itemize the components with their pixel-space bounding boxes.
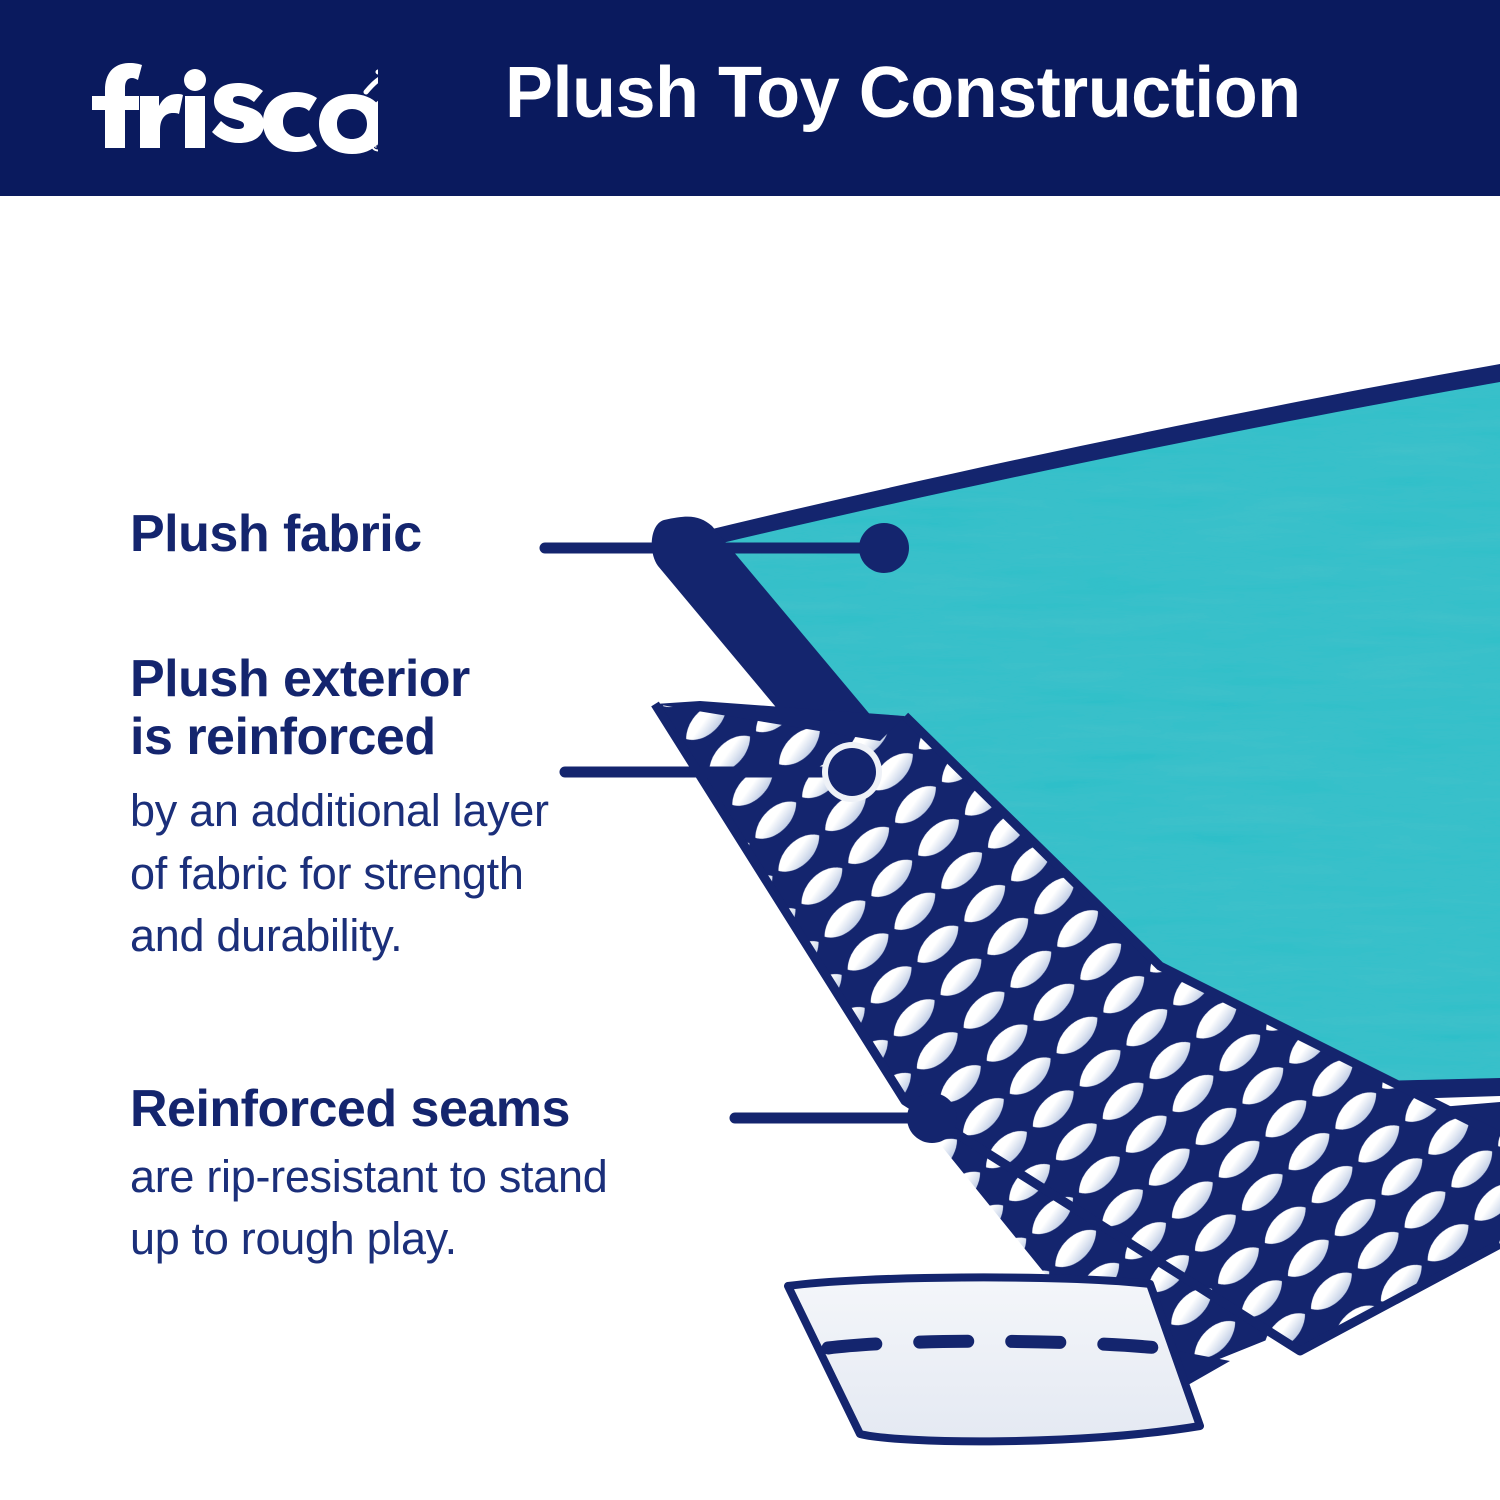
callout-body-line: of fabric for strength [130, 843, 549, 905]
callout-heading-line: is reinforced [130, 708, 549, 766]
infographic-page: R Plush Toy Construction [0, 0, 1500, 1500]
header-bar: R Plush Toy Construction [0, 0, 1500, 196]
callout-heading-line: Plush exterior [130, 650, 549, 708]
registered-trademark-icon: R [372, 138, 379, 151]
callout-reinforced-seams: Reinforced seams are rip-resistant to st… [130, 1080, 607, 1270]
callout-body-plush-exterior: by an additional layer of fabric for str… [130, 780, 549, 966]
callout-heading-reinforced-seams: Reinforced seams [130, 1080, 607, 1138]
callout-body-line: and durability. [130, 905, 549, 967]
callout-body-reinforced-seams: are rip-resistant to stand up to rough p… [130, 1146, 607, 1270]
page-title: Plush Toy Construction [505, 50, 1301, 138]
frisco-logo: R [78, 44, 378, 154]
callout-body-line: by an additional layer [130, 780, 549, 842]
callout-heading-plush-fabric: Plush fabric [130, 505, 422, 563]
callout-body-line: are rip-resistant to stand [130, 1146, 607, 1208]
callout-heading-plush-exterior: Plush exterior is reinforced [130, 650, 549, 766]
leader-dot-reinforced-seams [907, 1093, 957, 1143]
seam-flap-layer [788, 1277, 1200, 1441]
leader-dot-plush-exterior [828, 748, 876, 796]
callout-plush-exterior: Plush exterior is reinforced by an addit… [130, 650, 549, 967]
callout-body-line: up to rough play. [130, 1208, 607, 1270]
svg-text:R: R [375, 140, 378, 150]
leader-dot-plush-fabric [859, 523, 909, 573]
callout-plush-fabric: Plush fabric [130, 505, 422, 563]
